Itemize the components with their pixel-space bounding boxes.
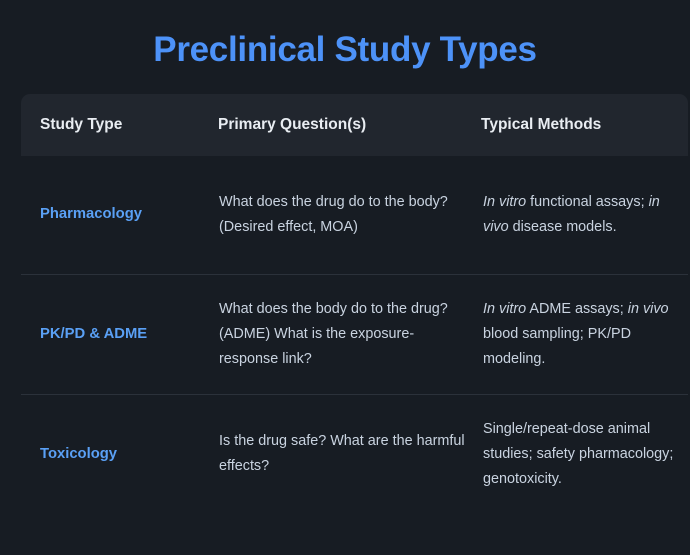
table-row: Pharmacology What does the drug do to th… [21,156,688,274]
preclinical-study-types-page: Preclinical Study Types Study Type Prima… [0,0,690,555]
column-header-typical-methods: Typical Methods [481,94,688,156]
table-container: Study Type Primary Question(s) Typical M… [21,94,669,514]
cell-study-type: Pharmacology [21,156,218,274]
table-row: PK/PD & ADME What does the body do to th… [21,274,688,394]
cell-primary-question: What does the drug do to the body? (Desi… [218,156,481,274]
cell-typical-methods: Single/repeat-dose animal studies; safet… [481,394,688,514]
cell-primary-question: Is the drug safe? What are the harmful e… [218,394,481,514]
page-title: Preclinical Study Types [0,0,690,72]
table-body: Pharmacology What does the drug do to th… [21,156,688,514]
cell-typical-methods: In vitro ADME assays; in vivo blood samp… [481,274,688,394]
cell-study-type: Toxicology [21,394,218,514]
cell-study-type: PK/PD & ADME [21,274,218,394]
cell-primary-question: What does the body do to the drug? (ADME… [218,274,481,394]
italic-term: In vitro [483,194,526,210]
table-row: Toxicology Is the drug safe? What are th… [21,394,688,514]
text-run: blood sampling; PK/PD modeling. [483,326,631,367]
text-run: ADME assays; [526,301,628,317]
italic-term: In vitro [483,301,526,317]
italic-term: in vivo [628,301,669,317]
table-header-row: Study Type Primary Question(s) Typical M… [21,94,688,156]
text-run: functional assays; [526,194,648,210]
column-header-study-type: Study Type [21,94,218,156]
text-run: Single/repeat-dose animal studies; safet… [483,421,673,487]
column-header-primary-question: Primary Question(s) [218,94,481,156]
text-run: disease models. [509,219,617,235]
cell-typical-methods: In vitro functional assays; in vivo dise… [481,156,688,274]
preclinical-study-types-table: Study Type Primary Question(s) Typical M… [21,94,688,514]
table-header: Study Type Primary Question(s) Typical M… [21,94,688,156]
